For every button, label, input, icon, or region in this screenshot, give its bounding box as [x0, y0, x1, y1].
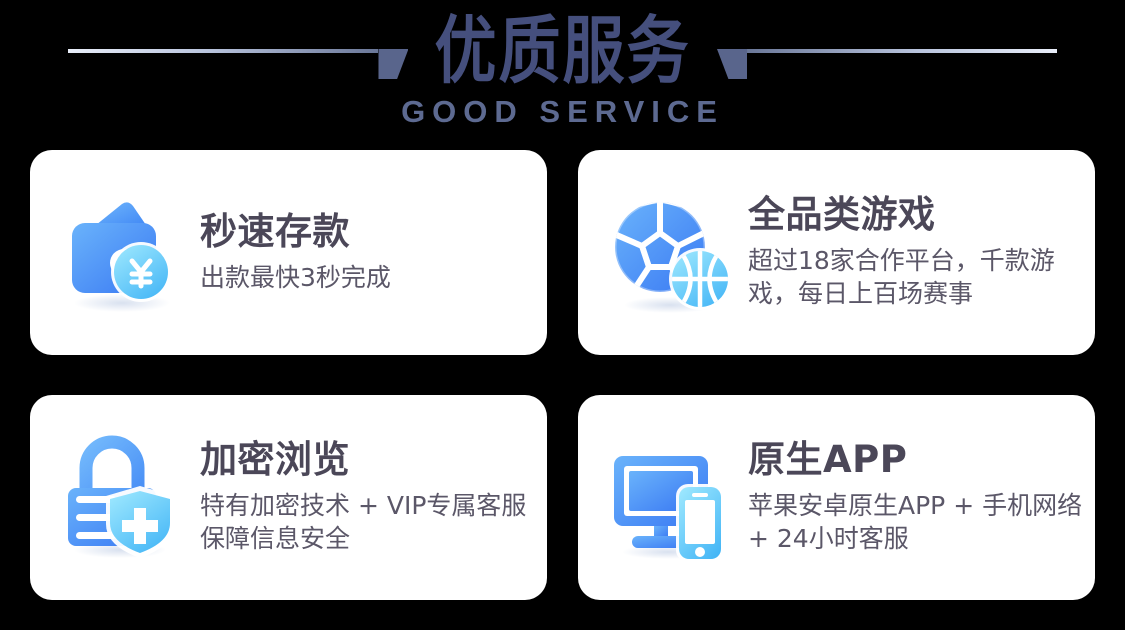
decoration-line-right [747, 49, 1057, 53]
card-text-block: 全品类游戏 超过18家合作平台，千款游戏，每日上百场赛事 [748, 194, 1083, 310]
service-highlight-banner: 优质服务 GOOD SERVICE [0, 0, 1125, 630]
decoration-slash-left [378, 49, 408, 79]
service-card-encrypted-browsing[interactable]: 加密浏览 特有加密技术 + VIP专属客服保障信息安全 [30, 395, 547, 600]
card-description: 出款最快3秒完成 [200, 261, 535, 294]
decoration-slash-right [717, 49, 747, 79]
service-card-grid: 秒速存款 出款最快3秒完成 [30, 150, 1095, 600]
decoration-line-left [68, 49, 378, 53]
page-subtitle: GOOD SERVICE [0, 96, 1125, 127]
card-description: 特有加密技术 + VIP专属客服保障信息安全 [200, 489, 535, 556]
service-card-native-app[interactable]: 原生APP 苹果安卓原生APP + 手机网络 + 24小时客服 [578, 395, 1095, 600]
desktop-monitor-icon [604, 432, 736, 564]
card-title: 加密浏览 [200, 439, 535, 482]
card-title: 原生APP [748, 439, 1083, 482]
wallet-icon [56, 187, 188, 319]
card-text-block: 加密浏览 特有加密技术 + VIP专属客服保障信息安全 [200, 439, 535, 555]
page-title: 优质服务 [420, 14, 704, 87]
card-title: 全品类游戏 [748, 194, 1083, 237]
padlock-icon [56, 432, 188, 564]
card-text-block: 秒速存款 出款最快3秒完成 [200, 211, 535, 294]
header-title-row: 优质服务 [0, 10, 1125, 92]
card-description: 超过18家合作平台，千款游戏，每日上百场赛事 [748, 244, 1083, 311]
service-card-instant-deposit[interactable]: 秒速存款 出款最快3秒完成 [30, 150, 547, 355]
banner-header: 优质服务 GOOD SERVICE [0, 0, 1125, 142]
soccer-ball-icon [604, 187, 736, 319]
card-text-block: 原生APP 苹果安卓原生APP + 手机网络 + 24小时客服 [748, 439, 1083, 555]
header-decoration-left [40, 21, 420, 81]
service-card-all-games[interactable]: 全品类游戏 超过18家合作平台，千款游戏，每日上百场赛事 [578, 150, 1095, 355]
card-description: 苹果安卓原生APP + 手机网络 + 24小时客服 [748, 489, 1083, 556]
header-decoration-right [705, 21, 1085, 81]
card-title: 秒速存款 [200, 211, 535, 254]
